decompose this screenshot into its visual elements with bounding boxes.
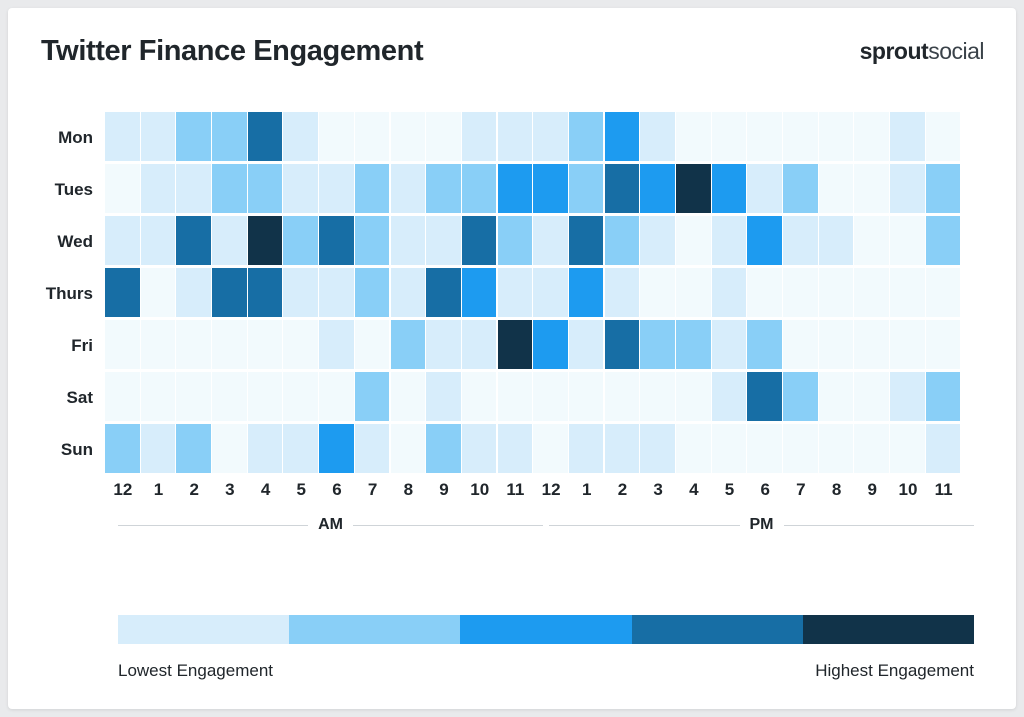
legend-band-4 bbox=[803, 615, 974, 644]
heatmap-cell[interactable] bbox=[747, 164, 782, 213]
x-tick-label: 5 bbox=[712, 480, 748, 500]
heatmap-cell[interactable] bbox=[533, 424, 568, 473]
heatmap-cell[interactable] bbox=[176, 112, 211, 161]
heatmap-cell[interactable] bbox=[640, 268, 675, 317]
day-label-thurs: Thurs bbox=[8, 268, 105, 320]
heatmap-cell[interactable] bbox=[854, 112, 889, 161]
heatmap-cell[interactable] bbox=[747, 112, 782, 161]
heatmap-cell[interactable] bbox=[462, 372, 497, 421]
heatmap-cell[interactable] bbox=[640, 424, 675, 473]
x-tick-label: 11 bbox=[926, 480, 962, 500]
heatmap-row-cells bbox=[105, 216, 962, 265]
heatmap-cell[interactable] bbox=[819, 268, 854, 317]
heatmap-cell[interactable] bbox=[533, 164, 568, 213]
heatmap-cell[interactable] bbox=[640, 372, 675, 421]
heatmap-cell[interactable] bbox=[712, 372, 747, 421]
x-tick-label: 6 bbox=[319, 480, 355, 500]
heatmap-cell[interactable] bbox=[462, 112, 497, 161]
x-tick-label: 8 bbox=[819, 480, 855, 500]
heatmap-row: Wed bbox=[8, 216, 1016, 268]
heatmap-cell[interactable] bbox=[819, 320, 854, 369]
heatmap-cell[interactable] bbox=[712, 268, 747, 317]
heatmap-cell[interactable] bbox=[248, 268, 283, 317]
heatmap-cell[interactable] bbox=[854, 424, 889, 473]
am-line-right bbox=[353, 525, 543, 526]
heatmap-cell[interactable] bbox=[283, 268, 318, 317]
heatmap-cell[interactable] bbox=[676, 372, 711, 421]
heatmap-cell[interactable] bbox=[854, 216, 889, 265]
heatmap-cell[interactable] bbox=[783, 164, 818, 213]
heatmap-cell[interactable] bbox=[105, 216, 140, 265]
heatmap-cell[interactable] bbox=[426, 164, 461, 213]
heatmap-cell[interactable] bbox=[391, 372, 426, 421]
heatmap-cell[interactable] bbox=[426, 372, 461, 421]
heatmap-cell[interactable] bbox=[355, 424, 390, 473]
heatmap-cell[interactable] bbox=[712, 320, 747, 369]
heatmap-cell[interactable] bbox=[854, 268, 889, 317]
heatmap-cell[interactable] bbox=[890, 164, 925, 213]
legend-low-label: Lowest Engagement bbox=[118, 661, 273, 681]
heatmap-cell[interactable] bbox=[141, 216, 176, 265]
x-tick-label: 7 bbox=[355, 480, 391, 500]
heatmap-cell[interactable] bbox=[854, 372, 889, 421]
heatmap-cell[interactable] bbox=[212, 112, 247, 161]
heatmap-grid: MonTuesWedThursFriSatSun bbox=[8, 112, 1016, 476]
x-tick-label: 3 bbox=[212, 480, 248, 500]
legend-gradient-bar bbox=[118, 615, 974, 644]
heatmap-row: Sat bbox=[8, 372, 1016, 424]
am-group: AM bbox=[118, 514, 543, 536]
x-tick-label: 5 bbox=[283, 480, 319, 500]
heatmap-row: Sun bbox=[8, 424, 1016, 476]
heatmap-cell[interactable] bbox=[212, 216, 247, 265]
heatmap-cell[interactable] bbox=[712, 164, 747, 213]
heatmap-cell[interactable] bbox=[926, 164, 961, 213]
heatmap-cell[interactable] bbox=[605, 112, 640, 161]
heatmap-cell[interactable] bbox=[498, 216, 533, 265]
heatmap-cell[interactable] bbox=[676, 216, 711, 265]
heatmap-cell[interactable] bbox=[569, 320, 604, 369]
heatmap-cell[interactable] bbox=[105, 112, 140, 161]
heatmap-cell[interactable] bbox=[712, 112, 747, 161]
heatmap-cell[interactable] bbox=[569, 216, 604, 265]
heatmap-row-cells bbox=[105, 372, 962, 421]
heatmap-cell[interactable] bbox=[783, 424, 818, 473]
x-tick-label: 1 bbox=[569, 480, 605, 500]
heatmap-cell[interactable] bbox=[462, 424, 497, 473]
heatmap-cell[interactable] bbox=[141, 268, 176, 317]
sprout-social-logo: sproutsocial bbox=[860, 38, 984, 65]
day-label-mon: Mon bbox=[8, 112, 105, 164]
heatmap-cell[interactable] bbox=[533, 112, 568, 161]
x-tick-label: 4 bbox=[248, 480, 284, 500]
heatmap-cell[interactable] bbox=[569, 268, 604, 317]
day-label-sat: Sat bbox=[8, 372, 105, 424]
heatmap-cell[interactable] bbox=[391, 164, 426, 213]
heatmap-cell[interactable] bbox=[283, 320, 318, 369]
heatmap-cell[interactable] bbox=[819, 164, 854, 213]
heatmap-cell[interactable] bbox=[283, 112, 318, 161]
legend-band-0 bbox=[118, 615, 289, 644]
heatmap-cell[interactable] bbox=[819, 424, 854, 473]
heatmap-row-cells bbox=[105, 424, 962, 473]
heatmap-cell[interactable] bbox=[498, 164, 533, 213]
heatmap-cell[interactable] bbox=[926, 320, 961, 369]
heatmap-cell[interactable] bbox=[462, 164, 497, 213]
pm-line-left bbox=[549, 525, 740, 526]
x-axis-hour-labels: 121234567891011121234567891011 bbox=[8, 480, 1016, 500]
x-tick-label: 9 bbox=[854, 480, 890, 500]
heatmap-cell[interactable] bbox=[819, 112, 854, 161]
heatmap-cell[interactable] bbox=[462, 268, 497, 317]
heatmap-cell[interactable] bbox=[355, 112, 390, 161]
legend-band-1 bbox=[289, 615, 460, 644]
heatmap-cell[interactable] bbox=[783, 216, 818, 265]
x-tick-label: 12 bbox=[533, 480, 569, 500]
heatmap-cell[interactable] bbox=[391, 112, 426, 161]
heatmap-cell[interactable] bbox=[212, 268, 247, 317]
heatmap-cell[interactable] bbox=[248, 112, 283, 161]
heatmap-cell[interactable] bbox=[355, 268, 390, 317]
heatmap-cell[interactable] bbox=[890, 320, 925, 369]
heatmap-row-cells bbox=[105, 268, 962, 317]
heatmap-cell[interactable] bbox=[105, 424, 140, 473]
pm-line-right bbox=[784, 525, 975, 526]
heatmap-cell[interactable] bbox=[498, 320, 533, 369]
heatmap-cell[interactable] bbox=[605, 268, 640, 317]
heatmap-cell[interactable] bbox=[141, 112, 176, 161]
heatmap-cell[interactable] bbox=[783, 372, 818, 421]
heatmap-cell[interactable] bbox=[426, 424, 461, 473]
heatmap-cell[interactable] bbox=[176, 164, 211, 213]
heatmap-cell[interactable] bbox=[355, 320, 390, 369]
heatmap-cell[interactable] bbox=[141, 164, 176, 213]
heatmap-cell[interactable] bbox=[533, 372, 568, 421]
heatmap-cell[interactable] bbox=[676, 112, 711, 161]
heatmap-cell[interactable] bbox=[854, 320, 889, 369]
logo-bold-text: sprout bbox=[860, 38, 929, 64]
am-label: AM bbox=[318, 516, 343, 534]
x-tick-label: 6 bbox=[747, 480, 783, 500]
heatmap-cell[interactable] bbox=[498, 424, 533, 473]
heatmap-cell[interactable] bbox=[569, 424, 604, 473]
x-tick-label: 1 bbox=[141, 480, 177, 500]
heatmap-cell[interactable] bbox=[283, 164, 318, 213]
heatmap-cell[interactable] bbox=[319, 164, 354, 213]
heatmap-cell[interactable] bbox=[248, 372, 283, 421]
x-tick-label: 2 bbox=[605, 480, 641, 500]
heatmap-cell[interactable] bbox=[819, 372, 854, 421]
heatmap-cell[interactable] bbox=[355, 372, 390, 421]
heatmap-cell[interactable] bbox=[212, 424, 247, 473]
heatmap-cell[interactable] bbox=[783, 320, 818, 369]
heatmap-cell[interactable] bbox=[105, 164, 140, 213]
heatmap-cell[interactable] bbox=[533, 216, 568, 265]
heatmap-cell[interactable] bbox=[640, 112, 675, 161]
x-tick-label: 4 bbox=[676, 480, 712, 500]
heatmap-cell[interactable] bbox=[319, 268, 354, 317]
heatmap-cell[interactable] bbox=[248, 164, 283, 213]
heatmap-cell[interactable] bbox=[498, 112, 533, 161]
heatmap-cell[interactable] bbox=[676, 268, 711, 317]
heatmap-cell[interactable] bbox=[176, 424, 211, 473]
heatmap-cell[interactable] bbox=[747, 268, 782, 317]
heatmap-cell[interactable] bbox=[605, 424, 640, 473]
heatmap-cell[interactable] bbox=[569, 164, 604, 213]
heatmap-cell[interactable] bbox=[248, 424, 283, 473]
day-label-wed: Wed bbox=[8, 216, 105, 268]
heatmap-cell[interactable] bbox=[176, 216, 211, 265]
heatmap-row: Fri bbox=[8, 320, 1016, 372]
heatmap-cell[interactable] bbox=[176, 372, 211, 421]
heatmap-cell[interactable] bbox=[783, 112, 818, 161]
heatmap-cell[interactable] bbox=[676, 424, 711, 473]
heatmap-cell[interactable] bbox=[605, 372, 640, 421]
heatmap-cell[interactable] bbox=[319, 372, 354, 421]
heatmap-row: Tues bbox=[8, 164, 1016, 216]
heatmap-cell[interactable] bbox=[605, 216, 640, 265]
heatmap-cell[interactable] bbox=[890, 372, 925, 421]
pm-group: PM bbox=[549, 514, 974, 536]
x-tick-label: 8 bbox=[391, 480, 427, 500]
heatmap-cell[interactable] bbox=[747, 372, 782, 421]
heatmap-cell[interactable] bbox=[391, 268, 426, 317]
heatmap-cell[interactable] bbox=[747, 320, 782, 369]
heatmap-cell[interactable] bbox=[212, 320, 247, 369]
x-tick-label: 10 bbox=[462, 480, 498, 500]
heatmap-cell[interactable] bbox=[462, 320, 497, 369]
heatmap-cell[interactable] bbox=[605, 320, 640, 369]
heatmap-cell[interactable] bbox=[890, 112, 925, 161]
heatmap-cell[interactable] bbox=[640, 216, 675, 265]
heatmap-cell[interactable] bbox=[676, 164, 711, 213]
heatmap-cell[interactable] bbox=[391, 320, 426, 369]
legend-band-3 bbox=[632, 615, 803, 644]
heatmap-cell[interactable] bbox=[426, 112, 461, 161]
heatmap-cell[interactable] bbox=[498, 268, 533, 317]
heatmap-cell[interactable] bbox=[319, 424, 354, 473]
x-tick-label: 7 bbox=[783, 480, 819, 500]
pm-label: PM bbox=[750, 516, 774, 534]
heatmap-row: Thurs bbox=[8, 268, 1016, 320]
heatmap-cell[interactable] bbox=[712, 424, 747, 473]
heatmap-cell[interactable] bbox=[355, 216, 390, 265]
heatmap-cell[interactable] bbox=[712, 216, 747, 265]
heatmap-cell[interactable] bbox=[426, 216, 461, 265]
heatmap-cell[interactable] bbox=[283, 216, 318, 265]
heatmap-cell[interactable] bbox=[105, 320, 140, 369]
day-label-tues: Tues bbox=[8, 164, 105, 216]
heatmap-cell[interactable] bbox=[319, 216, 354, 265]
heatmap-cell[interactable] bbox=[640, 320, 675, 369]
heatmap-cell[interactable] bbox=[283, 372, 318, 421]
x-tick-label: 11 bbox=[498, 480, 534, 500]
legend-high-label: Highest Engagement bbox=[815, 661, 974, 681]
heatmap-row-cells bbox=[105, 112, 962, 161]
heatmap-cell[interactable] bbox=[283, 424, 318, 473]
heatmap-cell[interactable] bbox=[854, 164, 889, 213]
heatmap-cell[interactable] bbox=[319, 112, 354, 161]
heatmap-cell[interactable] bbox=[248, 320, 283, 369]
heatmap-cell[interactable] bbox=[640, 164, 675, 213]
heatmap-cell[interactable] bbox=[426, 320, 461, 369]
heatmap-cell[interactable] bbox=[248, 216, 283, 265]
am-line-left bbox=[118, 525, 308, 526]
x-tick-label: 12 bbox=[105, 480, 141, 500]
heatmap-cell[interactable] bbox=[319, 320, 354, 369]
x-tick-label: 10 bbox=[890, 480, 926, 500]
heatmap-cell[interactable] bbox=[141, 320, 176, 369]
legend-labels: Lowest Engagement Highest Engagement bbox=[118, 661, 974, 681]
chart-header: Twitter Finance Engagement sproutsocial bbox=[8, 8, 1016, 86]
heatmap-cell[interactable] bbox=[426, 268, 461, 317]
heatmap-cell[interactable] bbox=[783, 268, 818, 317]
heatmap-cell[interactable] bbox=[533, 320, 568, 369]
heatmap-cell[interactable] bbox=[819, 216, 854, 265]
heatmap-cell[interactable] bbox=[391, 424, 426, 473]
heatmap-cell[interactable] bbox=[176, 320, 211, 369]
x-tick-label: 9 bbox=[426, 480, 462, 500]
heatmap-cell[interactable] bbox=[926, 424, 961, 473]
x-tick-label: 2 bbox=[176, 480, 212, 500]
chart-card: Twitter Finance Engagement sproutsocial … bbox=[8, 8, 1016, 709]
heatmap-cell[interactable] bbox=[569, 112, 604, 161]
x-tick-label: 3 bbox=[640, 480, 676, 500]
heatmap-cell[interactable] bbox=[890, 424, 925, 473]
heatmap-cell[interactable] bbox=[890, 216, 925, 265]
day-label-fri: Fri bbox=[8, 320, 105, 372]
heatmap-cell[interactable] bbox=[926, 216, 961, 265]
color-legend: Lowest Engagement Highest Engagement bbox=[118, 615, 974, 681]
heatmap-cell[interactable] bbox=[212, 164, 247, 213]
heatmap-cell[interactable] bbox=[141, 372, 176, 421]
heatmap-cell[interactable] bbox=[105, 372, 140, 421]
heatmap-cell[interactable] bbox=[747, 424, 782, 473]
heatmap-cell[interactable] bbox=[569, 372, 604, 421]
heatmap-cell[interactable] bbox=[105, 268, 140, 317]
heatmap-cell[interactable] bbox=[141, 424, 176, 473]
heatmap-cell[interactable] bbox=[926, 268, 961, 317]
heatmap-cell[interactable] bbox=[355, 164, 390, 213]
heatmap-cell[interactable] bbox=[747, 216, 782, 265]
heatmap-row-cells bbox=[105, 320, 962, 369]
am-pm-axis: AM PM bbox=[8, 514, 1016, 540]
heatmap-cell[interactable] bbox=[176, 268, 211, 317]
legend-band-2 bbox=[460, 615, 631, 644]
heatmap-cell[interactable] bbox=[212, 372, 247, 421]
page-title: Twitter Finance Engagement bbox=[41, 35, 423, 68]
day-label-sun: Sun bbox=[8, 424, 105, 476]
heatmap-cell[interactable] bbox=[890, 268, 925, 317]
logo-light-text: social bbox=[928, 38, 984, 64]
heatmap-cell[interactable] bbox=[926, 112, 961, 161]
heatmap-row-cells bbox=[105, 164, 962, 213]
heatmap-row: Mon bbox=[8, 112, 1016, 164]
heatmap-cell[interactable] bbox=[605, 164, 640, 213]
heatmap-cell[interactable] bbox=[391, 216, 426, 265]
heatmap-cell[interactable] bbox=[533, 268, 568, 317]
heatmap-cell[interactable] bbox=[462, 216, 497, 265]
heatmap-cell[interactable] bbox=[676, 320, 711, 369]
heatmap-cell[interactable] bbox=[498, 372, 533, 421]
heatmap-cell[interactable] bbox=[926, 372, 961, 421]
